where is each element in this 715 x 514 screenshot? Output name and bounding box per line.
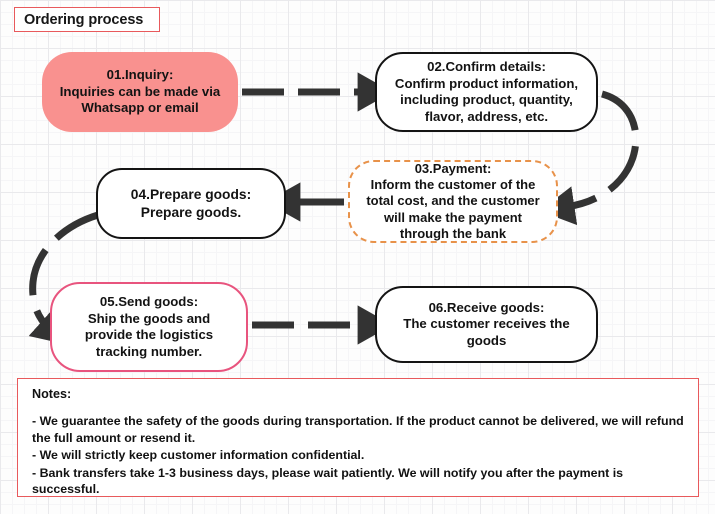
flow-node-inquiry[interactable]: 01.Inquiry: Inquiries can be made via Wh… <box>42 52 238 132</box>
node-line: The customer receives the <box>403 316 569 333</box>
node-line: 03.Payment: <box>415 161 492 177</box>
note-item: - Bank transfers take 1-3 business days,… <box>32 465 686 498</box>
node-line: 04.Prepare goods: <box>131 186 251 203</box>
node-line: will make the payment <box>384 210 522 226</box>
diagram-title-box: Ordering process <box>14 7 160 32</box>
flow-node-prepare-goods[interactable]: 04.Prepare goods: Prepare goods. <box>96 168 286 239</box>
flow-node-payment[interactable]: 03.Payment: Inform the customer of the t… <box>348 160 558 243</box>
node-line: Inform the customer of the <box>371 177 536 193</box>
node-line: Inquiries can be made via <box>60 84 221 101</box>
node-line: provide the logistics <box>85 327 213 344</box>
node-line: tracking number. <box>96 344 202 361</box>
notes-heading: Notes: <box>32 387 686 401</box>
node-line: Whatsapp or email <box>81 100 198 117</box>
node-line: 06.Receive goods: <box>429 300 545 317</box>
node-line: total cost, and the customer <box>366 193 539 209</box>
node-line: Ship the goods and <box>88 311 210 328</box>
flow-node-confirm-details[interactable]: 02.Confirm details: Confirm product info… <box>375 52 598 132</box>
node-line: flavor, address, etc. <box>425 109 548 126</box>
flow-node-send-goods[interactable]: 05.Send goods: Ship the goods and provid… <box>50 282 248 372</box>
page-title: Ordering process <box>24 12 143 28</box>
node-line: including product, quantity, <box>400 92 573 109</box>
node-line: goods <box>467 333 507 350</box>
flow-node-receive-goods[interactable]: 06.Receive goods: The customer receives … <box>375 286 598 363</box>
node-line: 01.Inquiry: <box>107 67 174 84</box>
flowchart-canvas: Ordering process 01.Inquiry: Inquiries c… <box>0 0 715 514</box>
node-line: 02.Confirm details: <box>427 59 546 76</box>
note-item: - We will strictly keep customer informa… <box>32 447 686 464</box>
node-line: 05.Send goods: <box>100 294 198 311</box>
node-line: through the bank <box>400 226 506 242</box>
notes-panel: Notes: - We guarantee the safety of the … <box>17 378 699 497</box>
node-line: Confirm product information, <box>395 76 578 93</box>
node-line: Prepare goods. <box>141 204 241 221</box>
note-item: - We guarantee the safety of the goods d… <box>32 413 686 446</box>
